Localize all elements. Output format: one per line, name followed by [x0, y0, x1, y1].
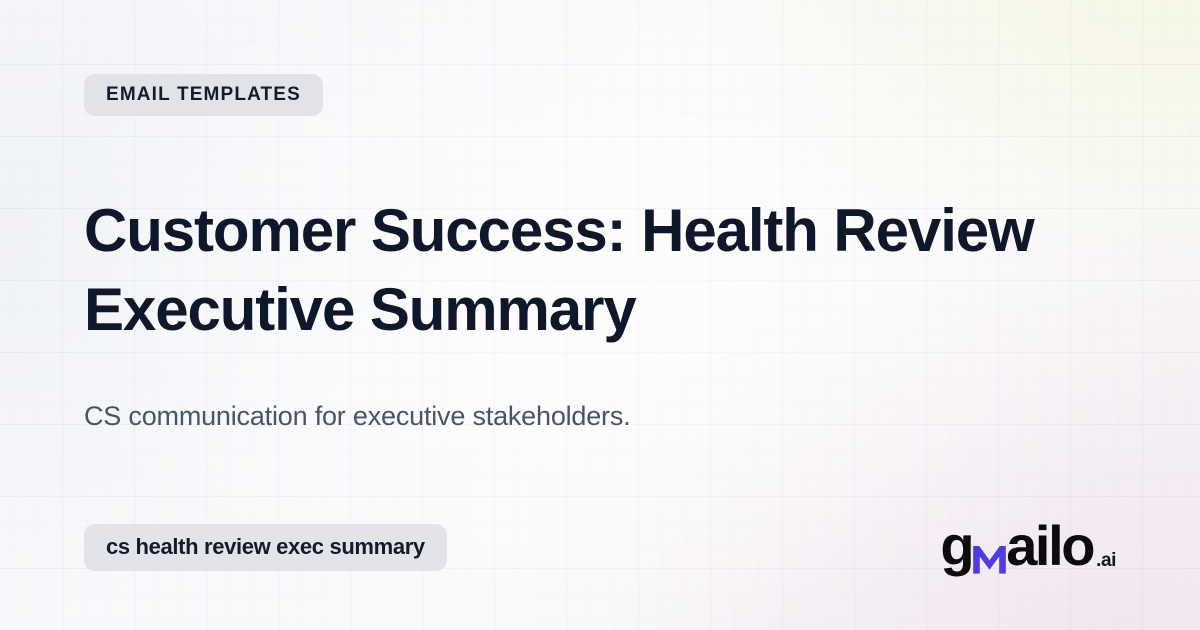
card-footer: cs health review exec summary g ailo .ai: [84, 518, 1116, 576]
eyebrow-row: EMAIL TEMPLATES: [84, 74, 1116, 116]
category-badge: EMAIL TEMPLATES: [84, 74, 323, 116]
card-content: EMAIL TEMPLATES Customer Success: Health…: [0, 0, 1200, 630]
brand-wordmark: g ailo: [940, 518, 1093, 574]
content-spacer: [84, 435, 1116, 518]
page-title-line-2: Executive Summary: [84, 276, 636, 343]
page-title: Customer Success: Health Review Executiv…: [84, 192, 1084, 349]
envelope-m-icon: [973, 545, 1006, 574]
brand-tld: .ai: [1096, 551, 1116, 570]
brand-letter-g: g: [940, 518, 972, 574]
page-subtitle: CS communication for executive stakehold…: [84, 398, 1116, 434]
brand-letters-ailo: ailo: [1006, 518, 1093, 574]
page-title-line-1: Customer Success: Health Review: [84, 197, 1034, 264]
brand-logo: g ailo .ai: [940, 518, 1116, 574]
slug-badge: cs health review exec summary: [84, 524, 447, 571]
og-card: EMAIL TEMPLATES Customer Success: Health…: [0, 0, 1200, 630]
